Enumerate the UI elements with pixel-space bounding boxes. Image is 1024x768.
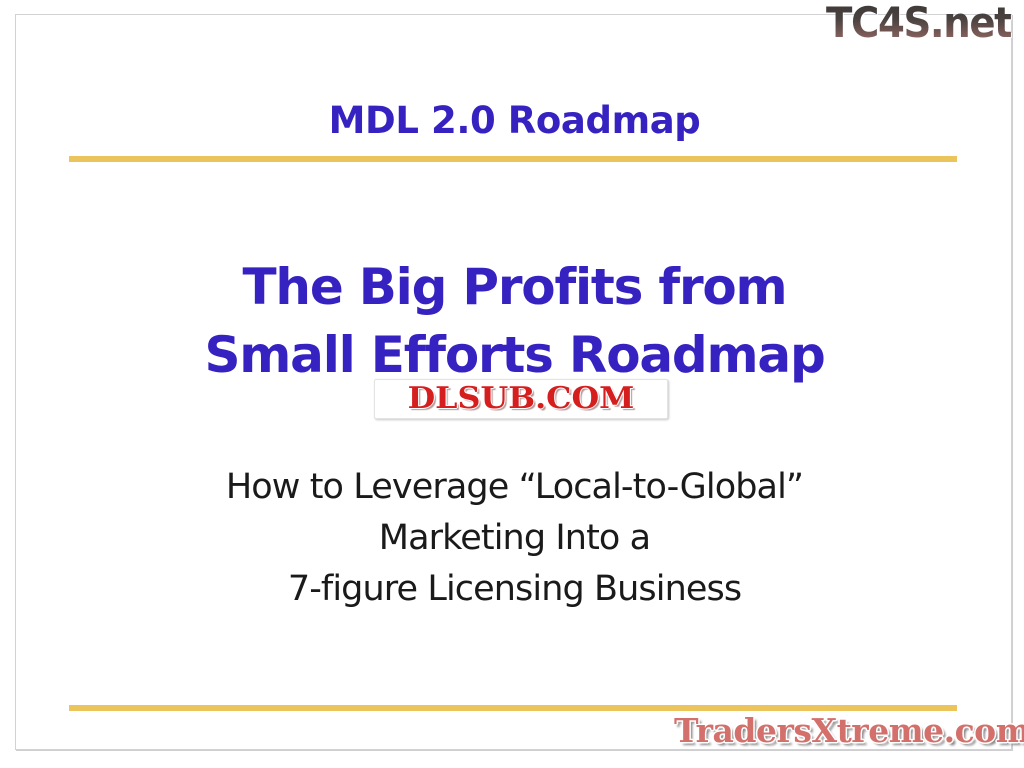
subtitle-line-3: 7-figure Licensing Business: [16, 564, 1013, 615]
slide-root: MDL 2.0 Roadmap The Big Profits from Sma…: [0, 0, 1024, 768]
divider-top: [69, 156, 957, 162]
page-title: MDL 2.0 Roadmap: [16, 100, 1013, 143]
watermark-dlsub-label: DLSUB.COM: [408, 384, 635, 414]
watermark-tc4s: TC4S.net: [826, 2, 1011, 44]
subtitle-line-2: Marketing Into a: [16, 513, 1013, 564]
watermark-tradersxtreme: TradersXtreme.com: [674, 714, 1024, 749]
slide-frame: MDL 2.0 Roadmap The Big Profits from Sma…: [15, 14, 1012, 750]
subtitle-line-1: How to Leverage “Local-to-Global”: [16, 462, 1013, 513]
subtitle-text: How to Leverage “Local-to-Global” Market…: [16, 462, 1013, 614]
main-title: The Big Profits from Small Efforts Roadm…: [16, 253, 1013, 389]
watermark-dlsub: DLSUB.COM: [374, 379, 668, 419]
main-title-line-1: The Big Profits from: [16, 253, 1013, 321]
